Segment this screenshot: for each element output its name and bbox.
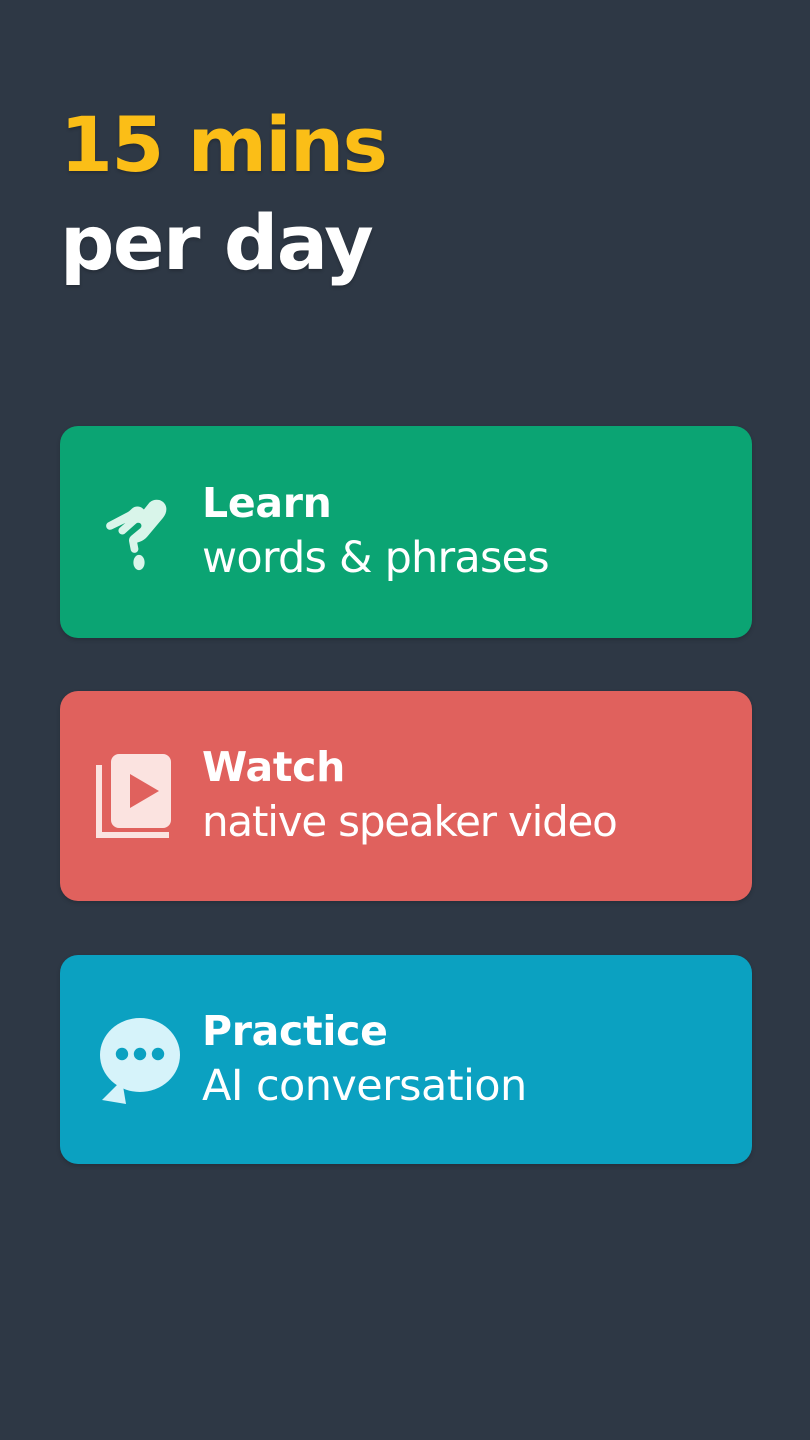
card-text-learn: Learn words & phrases bbox=[202, 477, 549, 587]
card-title-practice: Practice bbox=[202, 1005, 527, 1057]
feature-card-watch[interactable]: Watch native speaker video bbox=[60, 691, 752, 901]
promo-screen: 15 mins per day Learn words & phrases bbox=[0, 0, 810, 1440]
card-subtitle-watch: native speaker video bbox=[202, 793, 617, 851]
feature-card-practice[interactable]: Practice AI conversation bbox=[60, 955, 752, 1164]
hand-pick-icon bbox=[86, 480, 190, 584]
headline-line-2: per day bbox=[60, 194, 750, 292]
card-title-watch: Watch bbox=[202, 741, 617, 793]
feature-card-learn[interactable]: Learn words & phrases bbox=[60, 426, 752, 638]
chat-bubble-dots-icon bbox=[86, 1008, 190, 1112]
video-stack-play-icon bbox=[86, 744, 190, 848]
card-text-watch: Watch native speaker video bbox=[202, 741, 617, 851]
card-subtitle-learn: words & phrases bbox=[202, 529, 549, 587]
card-text-practice: Practice AI conversation bbox=[202, 1005, 527, 1115]
headline: 15 mins per day bbox=[60, 96, 750, 292]
card-title-learn: Learn bbox=[202, 477, 549, 529]
headline-line-1: 15 mins bbox=[60, 96, 750, 194]
card-subtitle-practice: AI conversation bbox=[202, 1057, 527, 1115]
